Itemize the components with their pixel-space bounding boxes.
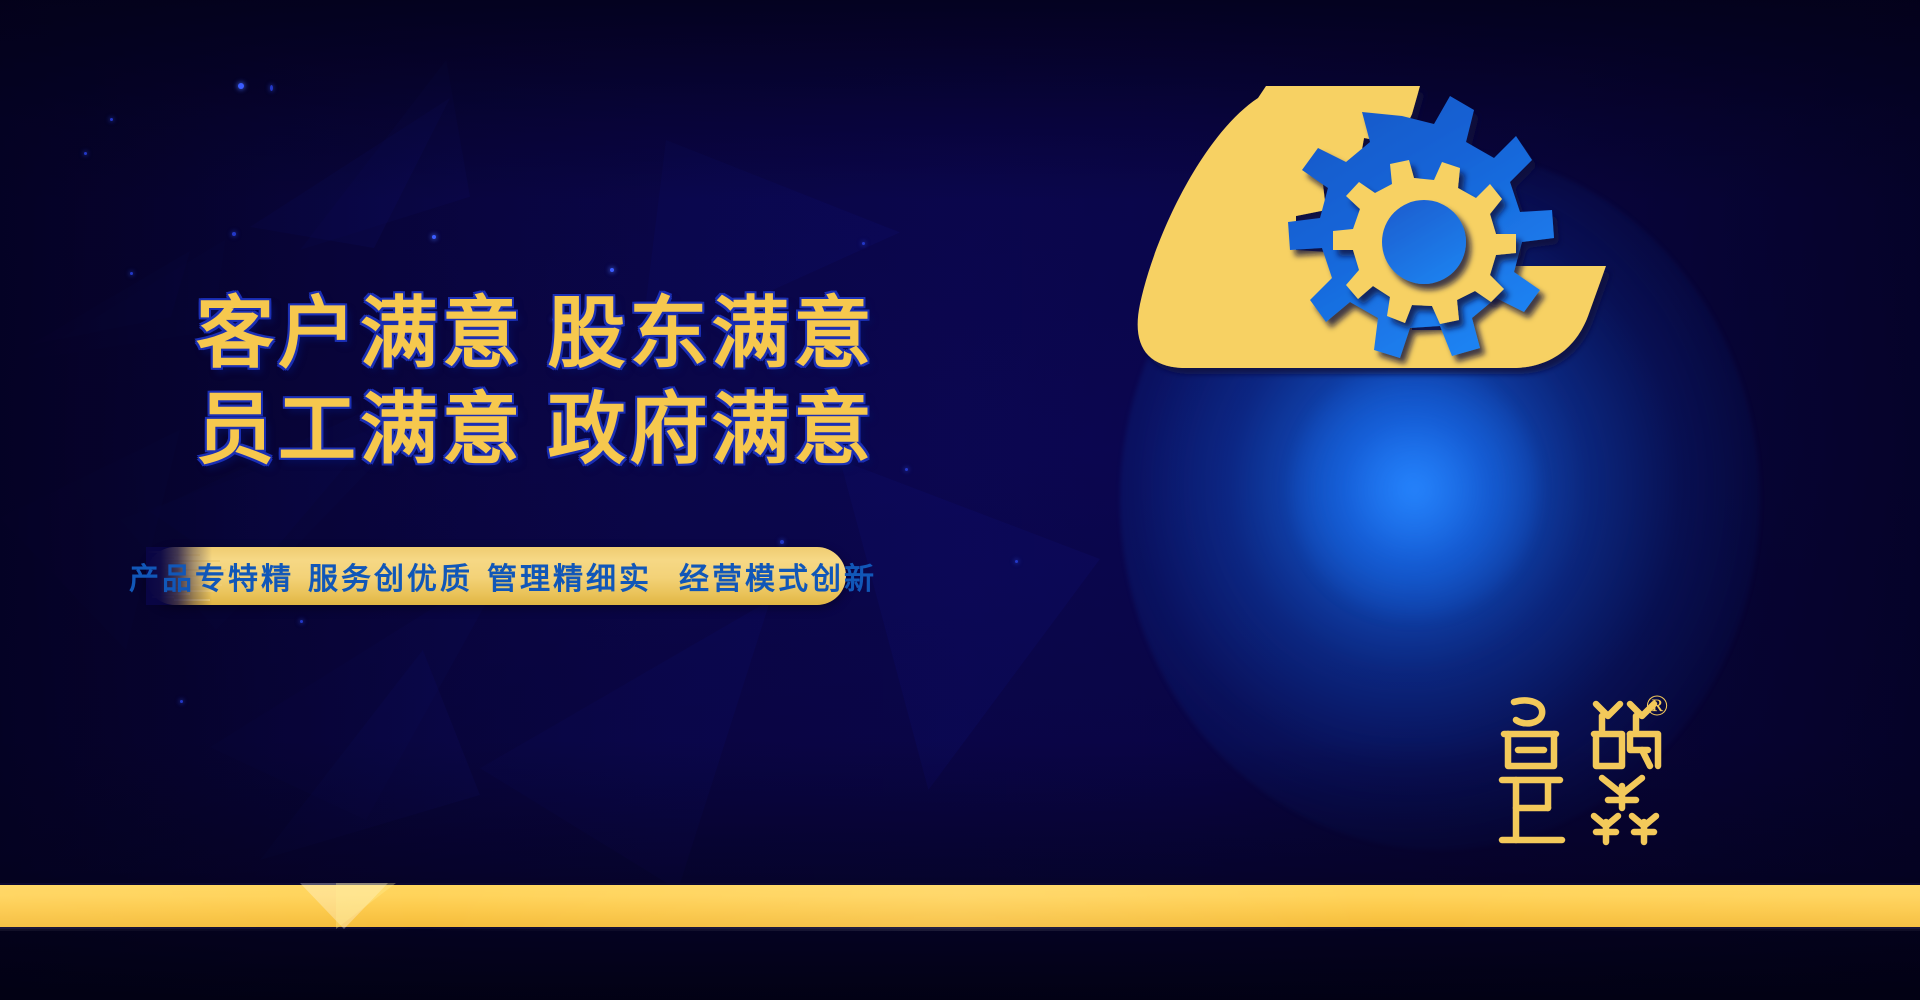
background-particle (238, 83, 244, 89)
gold-bar-highlight-triangle (336, 883, 396, 929)
background-particle (130, 272, 133, 275)
wordmark-char-zheng (1502, 780, 1562, 840)
motto-banner: 产品专特精 服务创优质 管理精细实 经营模式创新 (146, 547, 846, 605)
background-particle (300, 620, 303, 623)
background-particle (610, 268, 614, 272)
slogan-line-2: 员工满意 政府满意 (196, 382, 916, 478)
gold-bar-sheen (0, 885, 1920, 931)
background-particle (1015, 560, 1018, 563)
gold-divider-bar (0, 883, 1920, 929)
motto-segment: 服务创优质 (301, 554, 480, 598)
background-particle (180, 700, 183, 703)
background-particle (110, 118, 113, 121)
slogan-line-1: 客户满意 股东满意 (196, 286, 916, 382)
background-particle (432, 235, 436, 239)
motto-banner-text: 产品专特精 服务创优质 管理精细实 经营模式创新 (146, 547, 846, 605)
background-particle (232, 232, 236, 236)
company-logo-mark (1120, 80, 1680, 410)
culture-slogan: 客户满意 股东满意 员工满意 政府满意 (196, 286, 916, 478)
wordmark-char-tai (1504, 701, 1556, 767)
wordmark-char-sen (1594, 778, 1656, 842)
motto-segment: 管理精细实 (480, 554, 659, 598)
registered-trademark-icon: ® (1638, 688, 1676, 726)
background-particle (270, 85, 273, 91)
motto-segment: 经营模式创新 (659, 554, 884, 598)
background-particle (862, 242, 865, 245)
motto-segment: 产品专特精 (122, 554, 301, 598)
background-particle (780, 540, 784, 544)
background-particle (84, 152, 87, 155)
logo-center-circle (1382, 200, 1466, 284)
banner-stage: 客户满意 股东满意 员工满意 政府满意 产品专特精 (0, 0, 1920, 1000)
